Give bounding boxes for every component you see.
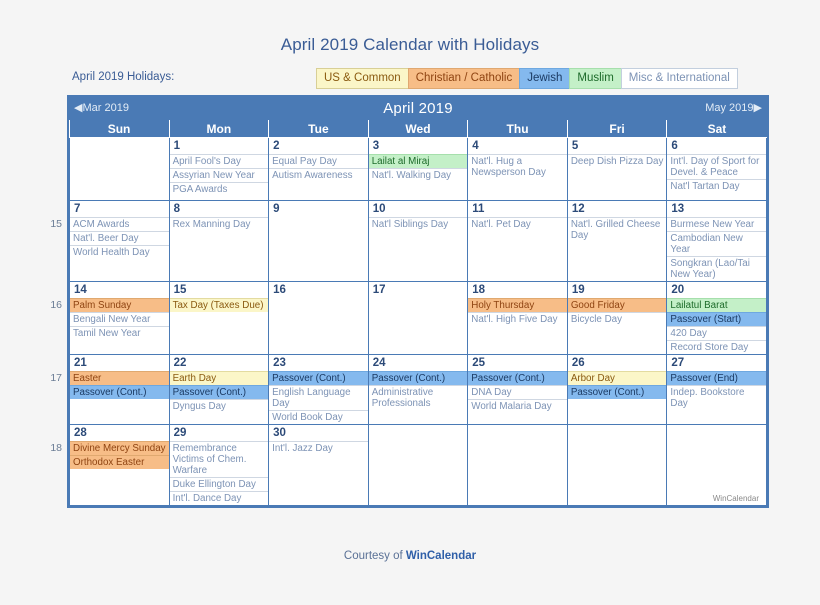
weekday-header-row: SunMonTueWedThuFriSat [70,120,767,138]
calendar-cell-empty [468,425,568,506]
holiday-entry[interactable]: Equal Pay Day [269,154,368,168]
holiday-entry[interactable]: Nat'l. Hug a Newsperson Day [468,154,567,179]
holiday-entry[interactable]: Tamil New Year [70,326,169,340]
calendar-body: 1April Fool's DayAssyrian New YearPGA Aw… [70,138,767,506]
day-number: 27 [667,355,766,371]
weekday-header-wed: Wed [368,120,468,138]
calendar-cell-day-29[interactable]: 29Remembrance Victims of Chem. WarfareDu… [169,425,269,506]
legend-item-1[interactable]: Christian / Catholic [408,68,521,89]
legend-label: April 2019 Holidays: [72,71,174,83]
day-number: 15 [170,282,269,298]
calendar-cell-day-19[interactable]: 19Good FridayBicycle Day [567,282,667,355]
calendar-cell-day-6[interactable]: 6Int'l. Day of Sport for Devel. & PeaceN… [667,138,767,201]
day-number: 17 [369,282,468,298]
day-number: 18 [468,282,567,298]
calendar-cell-day-26[interactable]: 26Arbor DayPassover (Cont.) [567,355,667,425]
day-number: 6 [667,138,766,154]
holiday-entry[interactable]: Tax Day (Taxes Due) [170,298,269,312]
holiday-entry[interactable]: Passover (Cont.) [468,371,567,385]
calendar-cell-day-15[interactable]: 15Tax Day (Taxes Due) [169,282,269,355]
legend-boxes: US & CommonChristian / CatholicJewishMus… [316,68,737,89]
legend-item-0[interactable]: US & Common [316,68,409,89]
holiday-entry[interactable]: Divine Mercy Sunday [70,441,169,455]
day-number: 12 [568,201,667,217]
calendar-cell-day-14[interactable]: 14Palm SundayBengali New YearTamil New Y… [70,282,170,355]
calendar-week-row: 1April Fool's DayAssyrian New YearPGA Aw… [70,138,767,201]
day-number: 25 [468,355,567,371]
legend-row: April 2019 Holidays: US & CommonChristia… [0,68,820,92]
calendar-cell-empty [368,425,468,506]
holiday-entry[interactable]: Holy Thursday [468,298,567,312]
day-number: 11 [468,201,567,217]
holiday-entry[interactable]: Assyrian New Year [170,168,269,182]
holiday-entry[interactable]: Nat'l. Beer Day [70,231,169,245]
calendar-cell-day-22[interactable]: 22Earth DayPassover (Cont.)Dyngus Day [169,355,269,425]
weekday-header-sat: Sat [667,120,767,138]
calendar-cell-day-10[interactable]: 10Nat'l Siblings Day [368,201,468,282]
calendar-cell-day-20[interactable]: 20Lailatul BaratPassover (Start)420 DayR… [667,282,767,355]
legend-item-4[interactable]: Misc & International [621,68,738,89]
calendar-cell-empty [70,138,170,201]
holiday-entry[interactable]: Cambodian New Year [667,231,766,256]
holiday-entry[interactable]: Easter [70,371,169,385]
holiday-entry[interactable]: Earth Day [170,371,269,385]
prev-month-link[interactable]: ◀Mar 2019 [74,97,129,120]
holiday-entry[interactable]: Dyngus Day [170,399,269,413]
holiday-entry[interactable]: Nat'l. Grilled Cheese Day [568,217,667,242]
holiday-entry[interactable]: Nat'l. High Five Day [468,312,567,326]
holiday-entry[interactable]: Deep Dish Pizza Day [568,154,667,168]
calendar-cell-day-11[interactable]: 11Nat'l. Pet Day [468,201,568,282]
legend-item-2[interactable]: Jewish [519,68,570,89]
calendar-cell-day-8[interactable]: 8Rex Manning Day [169,201,269,282]
holiday-entry[interactable]: Arbor Day [568,371,667,385]
holiday-entry[interactable]: World Malaria Day [468,399,567,413]
day-number: 30 [269,425,368,441]
holiday-entry[interactable]: Passover (Cont.) [568,385,667,399]
day-number: 9 [269,201,368,217]
holiday-entry[interactable]: Nat'l. Walking Day [369,168,468,182]
calendar-week-row: 14Palm SundayBengali New YearTamil New Y… [70,282,767,355]
calendar-cell-day-1[interactable]: 1April Fool's DayAssyrian New YearPGA Aw… [169,138,269,201]
holiday-entry[interactable]: DNA Day [468,385,567,399]
calendar-cell-day-23[interactable]: 23Passover (Cont.)English Language DayWo… [269,355,369,425]
calendar-cell-day-7[interactable]: 7ACM AwardsNat'l. Beer DayWorld Health D… [70,201,170,282]
week-number: 17 [50,372,62,384]
holiday-entry[interactable]: Palm Sunday [70,298,169,312]
holiday-entry[interactable]: Int'l. Day of Sport for Devel. & Peace [667,154,766,179]
holiday-entry[interactable]: Administrative Professionals [369,385,468,410]
calendar-cell-day-13[interactable]: 13Burmese New YearCambodian New YearSong… [667,201,767,282]
day-number: 8 [170,201,269,217]
holiday-entry[interactable]: Int'l. Dance Day [170,491,269,505]
current-month-title: April 2019 [69,97,767,120]
calendar-frame: ◀Mar 2019 April 2019 May 2019▶ SunMonTue… [67,95,769,508]
holiday-entry[interactable]: Indep. Bookstore Day [667,385,766,410]
holiday-entry[interactable]: Bengali New Year [70,312,169,326]
day-number: 2 [269,138,368,154]
holiday-entry[interactable]: Lailatul Barat [667,298,766,312]
holiday-entry[interactable]: Passover (End) [667,371,766,385]
calendar-cell-day-12[interactable]: 12Nat'l. Grilled Cheese Day [567,201,667,282]
holiday-entry[interactable]: Good Friday [568,298,667,312]
holiday-entry[interactable]: Passover (Cont.) [70,385,169,399]
day-number: 19 [568,282,667,298]
calendar-cell-empty [567,425,667,506]
day-number: 24 [369,355,468,371]
holiday-entry[interactable]: Record Store Day [667,340,766,354]
holiday-entry[interactable]: Passover (Cont.) [269,371,368,385]
calendar-header: ◀Mar 2019 April 2019 May 2019▶ [69,97,767,120]
holiday-entry[interactable]: Nat'l Tartan Day [667,179,766,193]
day-number: 7 [70,201,169,217]
holiday-entry[interactable]: Passover (Start) [667,312,766,326]
holiday-entry[interactable]: Lailat al Miraj [369,154,468,168]
holiday-entry[interactable]: World Book Day [269,410,368,424]
calendar-grid: SunMonTueWedThuFriSat 1April Fool's DayA… [69,120,767,506]
page-title: April 2019 Calendar with Holidays [0,0,820,55]
holiday-entry[interactable]: Autism Awareness [269,168,368,182]
calendar-week-row: 21EasterPassover (Cont.)22Earth DayPasso… [70,355,767,425]
day-number: 10 [369,201,468,217]
calendar-cell-day-27[interactable]: 27Passover (End)Indep. Bookstore Day [667,355,767,425]
calendar-cell-day-5[interactable]: 5Deep Dish Pizza Day [567,138,667,201]
holiday-entry[interactable]: Passover (Cont.) [369,371,468,385]
holiday-entry[interactable]: PGA Awards [170,182,269,196]
day-number: 26 [568,355,667,371]
day-number: 21 [70,355,169,371]
holiday-entry[interactable]: Rex Manning Day [170,217,269,231]
watermark: WinCalendar [713,494,759,503]
legend-item-3[interactable]: Muslim [569,68,621,89]
footer-brand[interactable]: WinCalendar [406,550,476,562]
week-number: 18 [50,442,62,454]
holiday-entry[interactable]: Bicycle Day [568,312,667,326]
day-number: 13 [667,201,766,217]
holiday-entry[interactable]: Burmese New Year [667,217,766,231]
day-number: 29 [170,425,269,441]
week-number: 15 [50,218,62,230]
weekday-header-thu: Thu [468,120,568,138]
calendar-cell-day-28[interactable]: 28Divine Mercy SundayOrthodox Easter [70,425,170,506]
calendar-cell-day-3[interactable]: 3Lailat al MirajNat'l. Walking Day [368,138,468,201]
day-number: 1 [170,138,269,154]
holiday-entry[interactable]: Songkran (Lao/Tai New Year) [667,256,766,281]
footer: Courtesy of WinCalendar [0,550,820,562]
calendar-cell-day-4[interactable]: 4Nat'l. Hug a Newsperson Day [468,138,568,201]
day-number: 16 [269,282,368,298]
weekday-header-mon: Mon [169,120,269,138]
day-number: 23 [269,355,368,371]
day-number: 3 [369,138,468,154]
holiday-entry[interactable]: April Fool's Day [170,154,269,168]
holiday-entry[interactable]: ACM Awards [70,217,169,231]
weekday-header-tue: Tue [269,120,369,138]
holiday-entry[interactable]: Duke Ellington Day [170,477,269,491]
holiday-entry[interactable]: 420 Day [667,326,766,340]
holiday-entry[interactable]: Int'l. Jazz Day [269,441,368,455]
calendar-cell-day-17[interactable]: 17 [368,282,468,355]
calendar-cell-day-24[interactable]: 24Passover (Cont.)Administrative Profess… [368,355,468,425]
day-number: 14 [70,282,169,298]
day-number: 20 [667,282,766,298]
calendar-cell-day-2[interactable]: 2Equal Pay DayAutism Awareness [269,138,369,201]
day-number: 5 [568,138,667,154]
next-month-link[interactable]: May 2019▶ [705,97,762,120]
day-number: 22 [170,355,269,371]
holiday-entry[interactable]: Nat'l. Pet Day [468,217,567,231]
calendar-cell-day-25[interactable]: 25Passover (Cont.)DNA DayWorld Malaria D… [468,355,568,425]
holiday-entry[interactable]: Nat'l Siblings Day [369,217,468,231]
calendar-cell-day-30[interactable]: 30Int'l. Jazz Day [269,425,369,506]
calendar-cell-day-16[interactable]: 16 [269,282,369,355]
calendar-cell-day-9[interactable]: 9 [269,201,369,282]
week-number: 16 [50,299,62,311]
footer-prefix: Courtesy of [344,550,406,562]
holiday-entry[interactable]: Orthodox Easter [70,455,169,469]
calendar-page: April 2019 Calendar with Holidays April … [0,0,820,605]
weekday-header-sun: Sun [70,120,170,138]
holiday-entry[interactable]: World Health Day [70,245,169,259]
holiday-entry[interactable]: Remembrance Victims of Chem. Warfare [170,441,269,477]
holiday-entry[interactable]: Passover (Cont.) [170,385,269,399]
holiday-entry[interactable]: English Language Day [269,385,368,410]
day-number: 28 [70,425,169,441]
calendar-week-row: 7ACM AwardsNat'l. Beer DayWorld Health D… [70,201,767,282]
day-number: 4 [468,138,567,154]
calendar-week-row: 28Divine Mercy SundayOrthodox Easter29Re… [70,425,767,506]
calendar-cell-day-18[interactable]: 18Holy ThursdayNat'l. High Five Day [468,282,568,355]
calendar-cell-day-21[interactable]: 21EasterPassover (Cont.) [70,355,170,425]
weekday-header-fri: Fri [567,120,667,138]
